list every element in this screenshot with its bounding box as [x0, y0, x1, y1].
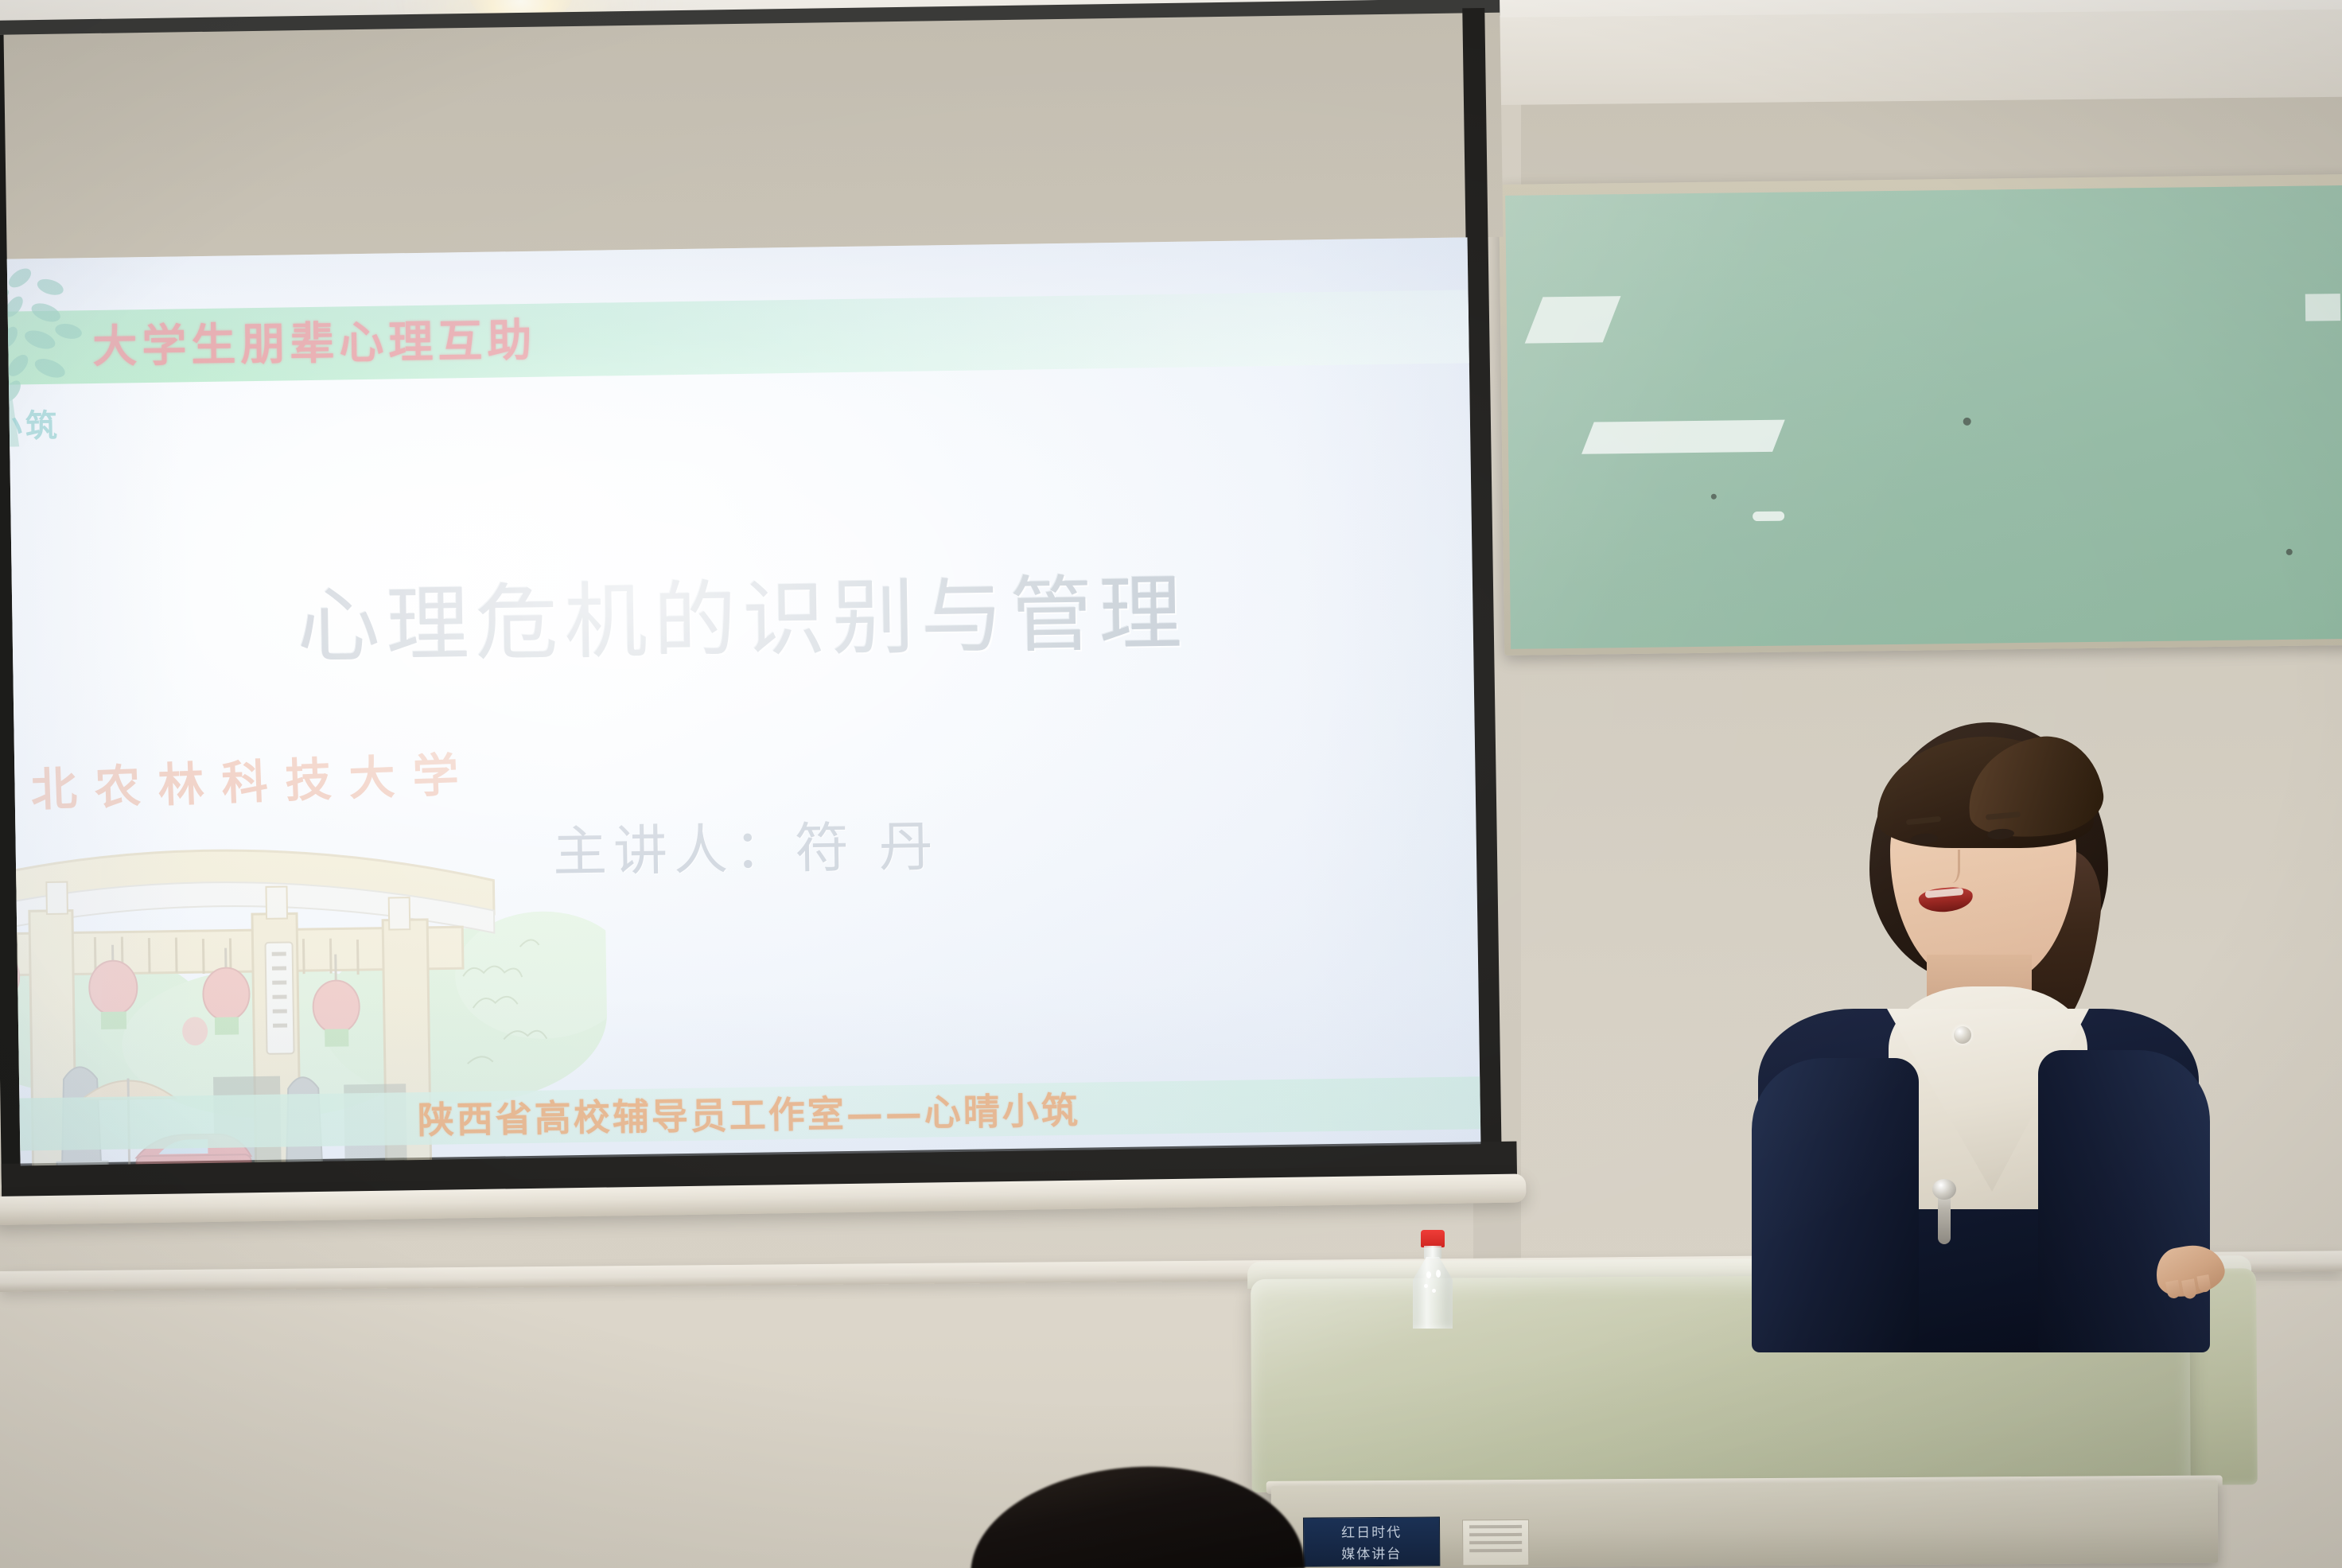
bottle-cap	[1421, 1230, 1445, 1247]
projected-slide: 大学生朋辈心理互助 小筑	[7, 237, 1481, 1165]
slide-title: 心理危机的识别与管理	[11, 541, 1473, 683]
sticker-line	[1469, 1549, 1522, 1552]
presenter-zipper-pull	[1932, 1179, 1956, 1200]
podium-brand-line1: 红日时代	[1341, 1521, 1402, 1541]
lecture-hall-photo: 大学生朋辈心理互助 小筑	[0, 0, 2342, 1568]
chalkboard-light-reflection	[2305, 294, 2340, 321]
slide-banner-sub-text: 小筑	[7, 400, 60, 447]
chalkboard-speck	[1963, 418, 1971, 426]
chalkboard-light-reflection	[1581, 420, 1785, 454]
bottle-highlight	[1426, 1271, 1431, 1278]
sticker-line	[1469, 1541, 1522, 1544]
sticker-line	[1469, 1525, 1522, 1528]
presenter	[1710, 716, 2315, 1352]
water-bottle	[1413, 1230, 1453, 1325]
chalkboard-speck	[2286, 549, 2293, 555]
bottle-highlight	[1432, 1289, 1436, 1293]
bottle-highlight	[1436, 1270, 1441, 1278]
slide-banner-top-text: 大学生朋辈心理互助	[92, 307, 650, 379]
presenter-right-shoulder	[2038, 1050, 2210, 1352]
presenter-left-shoulder	[1752, 1058, 1919, 1352]
chalkboard-sheen	[1505, 185, 2342, 649]
green-chalkboard	[1499, 174, 2342, 656]
screen-top-mask	[0, 13, 1504, 259]
slide-banner-bottom-text: 陕西省高校辅导员工作室——心晴小筑	[417, 1082, 1080, 1144]
podium-brand-line2: 媒体讲台	[1341, 1543, 1402, 1562]
chalkboard-light-reflection	[1753, 512, 1784, 521]
projection-screen: 大学生朋辈心理互助 小筑	[0, 0, 1519, 1303]
bottle-body	[1413, 1257, 1453, 1329]
sticker-line	[1469, 1533, 1522, 1536]
presenter-nose	[1939, 850, 1960, 883]
bottle-highlight	[1424, 1284, 1428, 1288]
chalkboard-speck	[1711, 494, 1717, 500]
bottle-neck	[1424, 1246, 1441, 1259]
podium-spec-sticker	[1462, 1519, 1529, 1566]
presenter-necklace-pendant	[1954, 1026, 1971, 1044]
podium-brand-plate: 红日时代 媒体讲台	[1303, 1517, 1440, 1567]
